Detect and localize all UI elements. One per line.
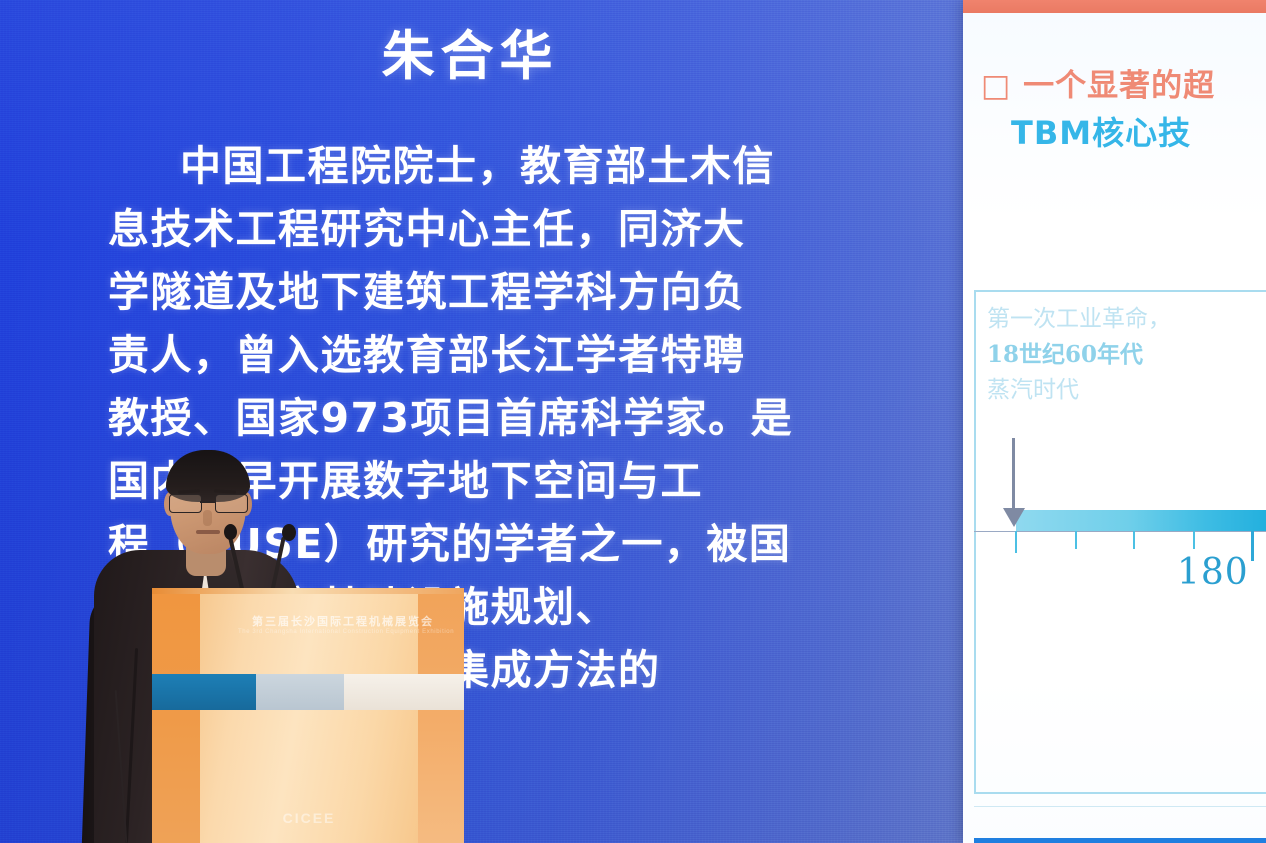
timeline-axis: [974, 531, 1266, 532]
podium-band-white: [344, 674, 464, 710]
bullet-square-icon: □: [981, 68, 1011, 104]
podium-band-blue: [152, 674, 256, 710]
microphone-head-right: [282, 524, 296, 541]
screen-divider-hairline: [974, 806, 1266, 807]
speaker-name-title: 朱合华: [0, 14, 940, 90]
podium-logo: CICEE: [264, 810, 354, 826]
podium-left-panel: [152, 588, 200, 843]
podium-event-title-zh: 第三届长沙国际工程机械展览会: [248, 613, 438, 629]
podium-event-title-en: The 3rd Changsha International Construct…: [238, 629, 448, 635]
glasses-bridge: [200, 501, 215, 503]
timeline-arrow-stem: [1012, 438, 1015, 516]
timeline-tick: [1133, 531, 1135, 549]
lectern-podium: 第三届长沙国际工程机械展览会 The 3rd Changsha Internat…: [152, 588, 464, 843]
timeline-year-label: 180: [1177, 552, 1249, 593]
era-line-1: 第一次工业革命，: [987, 306, 1171, 332]
era-line-2: 18世纪60年代: [987, 341, 1143, 368]
podium-color-band: [152, 674, 464, 710]
timeline-tick: [1075, 531, 1077, 549]
speaker-nose: [203, 510, 212, 526]
era-line-3: 蒸汽时代: [987, 377, 1079, 403]
glasses-lens-left: [169, 494, 202, 513]
screen-heading-line-1: □ 一个显著的超: [981, 60, 1266, 105]
bio-line: 学隧道及地下建筑工程学科方向负: [108, 261, 814, 324]
down-arrow-icon: [1003, 508, 1025, 527]
timeline-tick: [1193, 531, 1195, 549]
speaker-mouth: [196, 530, 220, 534]
glasses-lens-right: [215, 494, 248, 513]
screen-top-red-bar: [963, 0, 1266, 13]
bio-line: 中国工程院院士，教育部土木信: [108, 135, 814, 198]
conference-photo-stage: 朱合华 中国工程院院士，教育部土木信 息技术工程研究中心主任，同济大 学隧道及地…: [0, 0, 1266, 843]
era-caption-block: 第一次工业革命， 18世纪60年代 蒸汽时代: [987, 302, 1266, 408]
podium-band-gray: [256, 674, 344, 710]
microphone-head-left: [224, 524, 237, 540]
heading-text-1: 一个显著的超: [1023, 68, 1215, 104]
bio-line: 息技术工程研究中心主任，同济大: [108, 198, 814, 261]
timeline-tick-major: [1251, 531, 1254, 561]
projection-screen-panel: □ 一个显著的超 TBM核心技 第一次工业革命， 18世纪60年代 蒸汽时代 1…: [963, 0, 1266, 843]
screen-heading-line-2: TBM核心技: [1011, 108, 1266, 154]
timeline-tick: [1015, 531, 1017, 553]
timeline-cyan-band: [1016, 510, 1266, 531]
bio-line: 责人，曾入选教育部长江学者特聘: [108, 324, 814, 387]
podium-top-edge: [152, 588, 464, 594]
screen-bottom-blue-bar: [974, 838, 1266, 843]
